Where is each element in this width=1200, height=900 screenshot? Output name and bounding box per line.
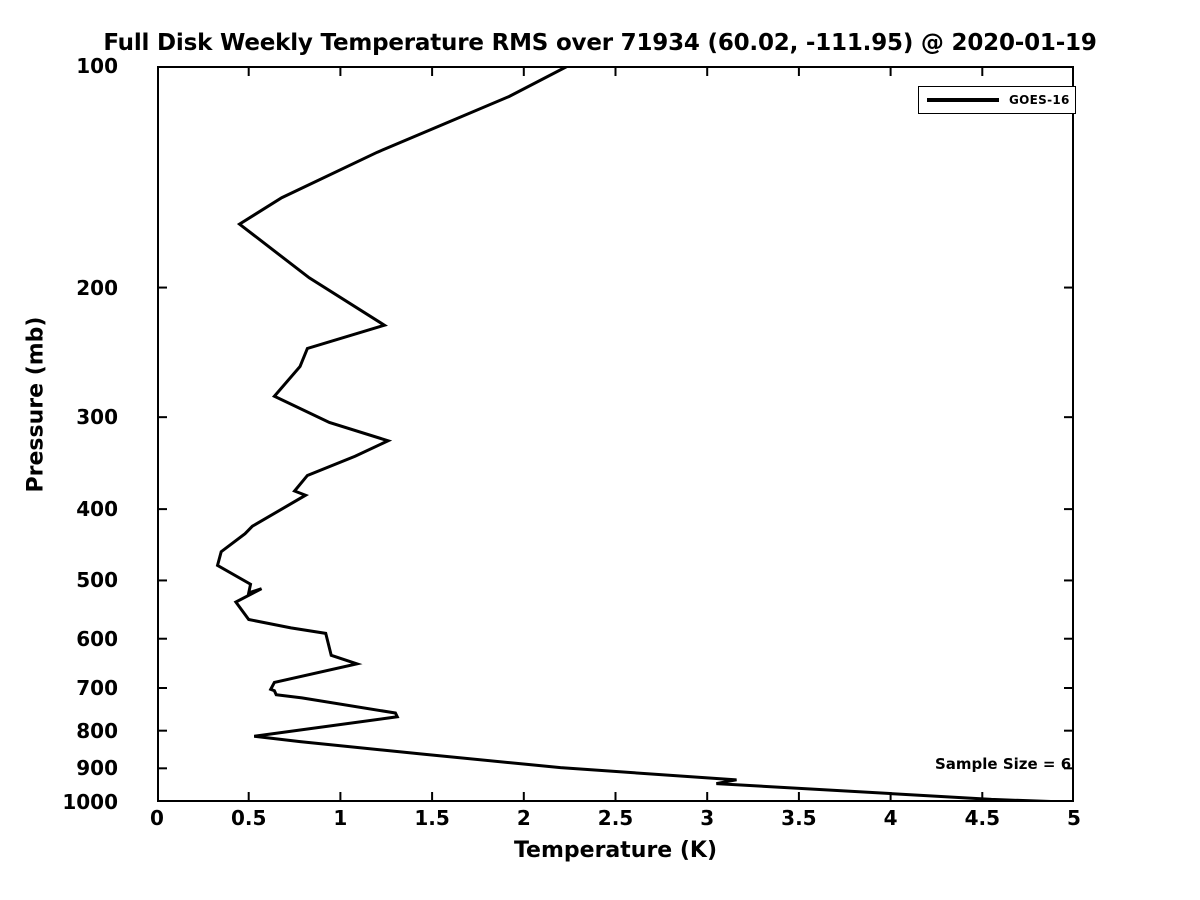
legend-line-goes-16 — [927, 98, 999, 102]
y-tick-label: 1000 — [0, 790, 118, 814]
y-tick-label: 300 — [0, 405, 118, 429]
x-tick-label: 2.5 — [576, 806, 656, 830]
chart-figure: Full Disk Weekly Temperature RMS over 71… — [0, 0, 1200, 900]
y-tick-label: 100 — [0, 54, 118, 78]
x-tick-label: 1 — [300, 806, 380, 830]
x-tick-label: 4.5 — [942, 806, 1022, 830]
data-line-goes-16 — [218, 66, 1065, 802]
x-tick-label: 2 — [484, 806, 564, 830]
x-tick-label: 3.5 — [759, 806, 839, 830]
x-tick-label: 5 — [1034, 806, 1114, 830]
y-tick-label: 400 — [0, 497, 118, 521]
y-tick-label: 200 — [0, 276, 118, 300]
axis-frame — [158, 67, 1073, 801]
x-tick-label: 1.5 — [392, 806, 472, 830]
legend[interactable]: GOES-16 — [918, 86, 1076, 114]
y-tick-label: 700 — [0, 676, 118, 700]
y-tick-label: 900 — [0, 756, 118, 780]
x-tick-label: 0.5 — [209, 806, 289, 830]
y-tick-label: 800 — [0, 719, 118, 743]
y-tick-label: 500 — [0, 568, 118, 592]
x-tick-label: 4 — [851, 806, 931, 830]
chart-title: Full Disk Weekly Temperature RMS over 71… — [0, 30, 1200, 56]
x-tick-label: 0 — [117, 806, 197, 830]
plot-area — [157, 66, 1074, 802]
sample-size-annotation: Sample Size = 6 — [935, 755, 1071, 773]
x-axis-label: Temperature (K) — [157, 838, 1074, 863]
legend-label-goes-16: GOES-16 — [1009, 93, 1070, 107]
y-tick-label: 600 — [0, 627, 118, 651]
x-tick-label: 3 — [667, 806, 747, 830]
